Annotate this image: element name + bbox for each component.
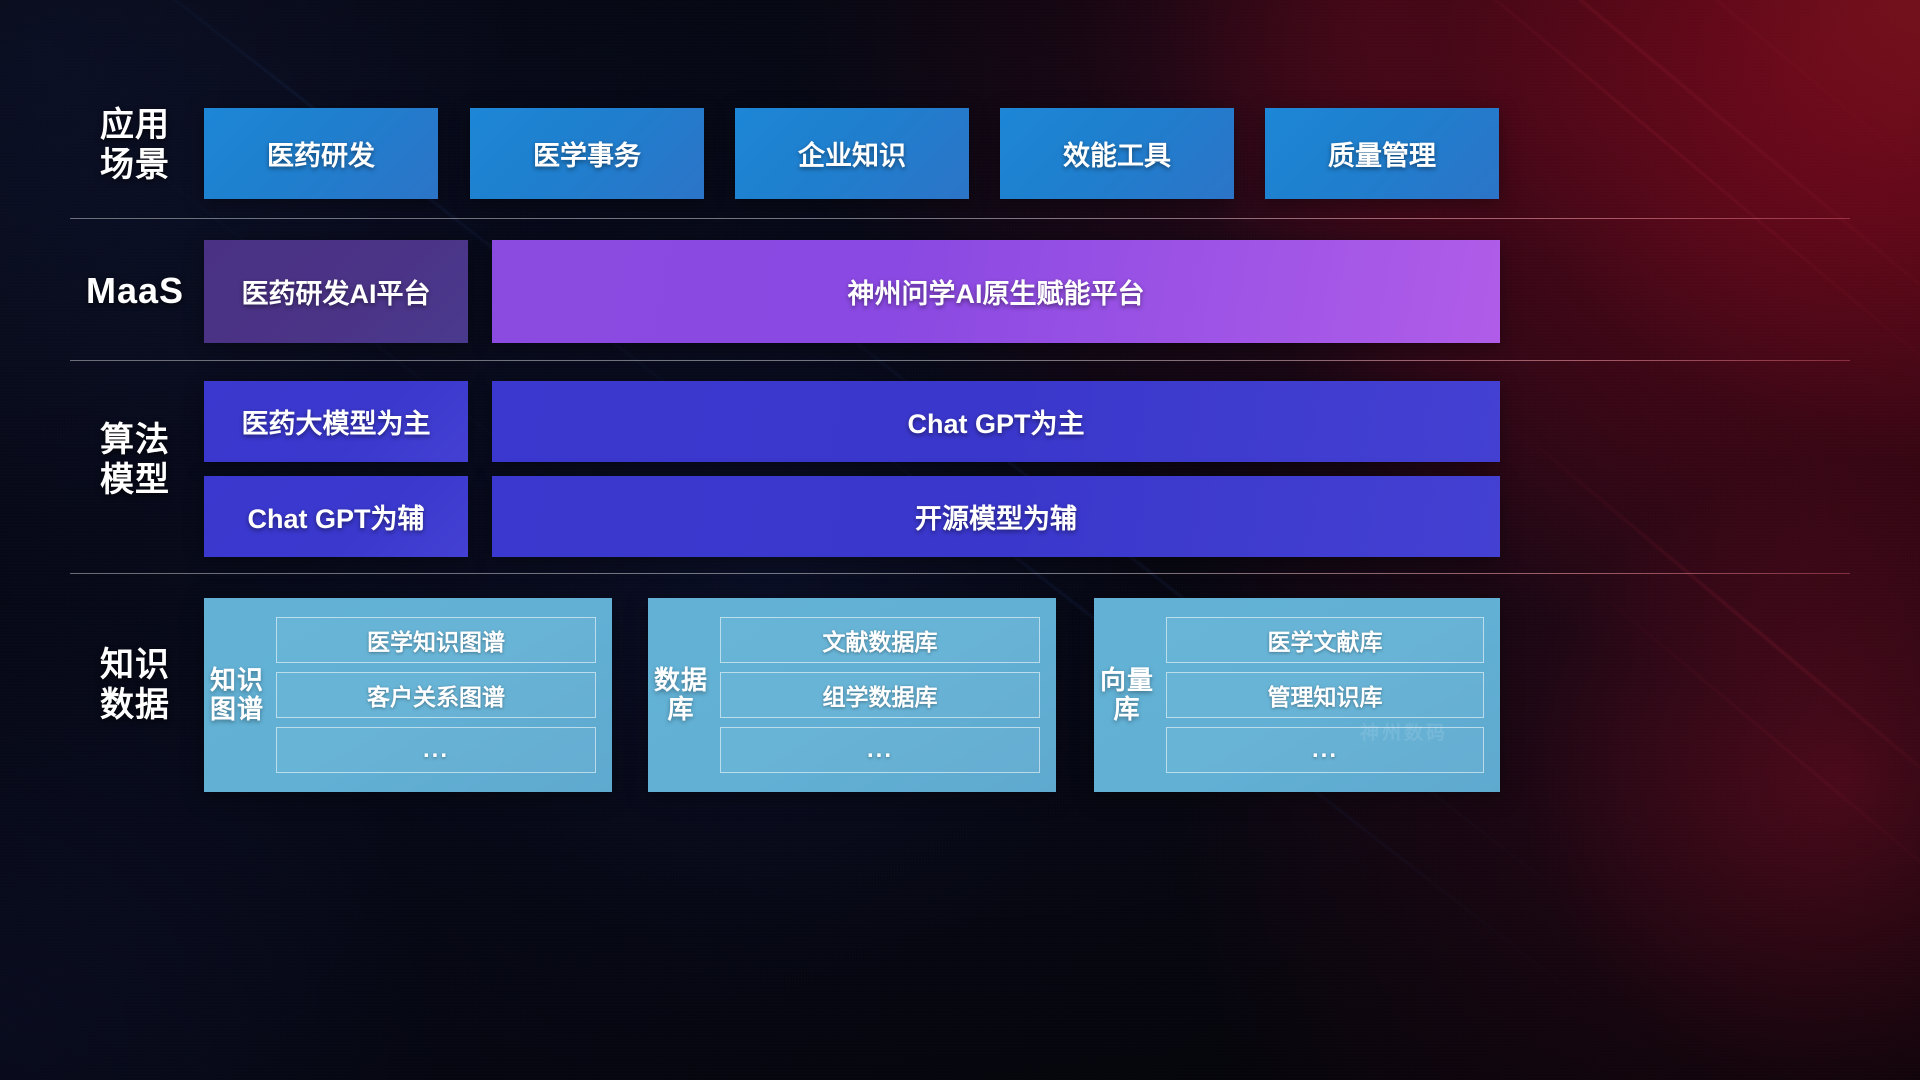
algorithm-box-right-2[interactable]: 开源模型为辅 bbox=[492, 476, 1500, 557]
maas-box-left[interactable]: 医药研发AI平台 bbox=[204, 240, 468, 343]
knowledge-panel-1-title: 知识图谱 bbox=[204, 598, 270, 792]
knowledge-panel-3-items: 医学文献库 管理知识库 ... bbox=[1160, 598, 1500, 792]
knowledge-panel-2[interactable]: 数据库 文献数据库 组学数据库 ... bbox=[648, 598, 1056, 792]
knowledge-item[interactable]: 客户关系图谱 bbox=[276, 672, 596, 718]
row-label-algorithm: 算法 模型 bbox=[70, 420, 200, 500]
algorithm-box-left-1[interactable]: 医药大模型为主 bbox=[204, 381, 468, 462]
knowledge-panel-1[interactable]: 知识图谱 医学知识图谱 客户关系图谱 ... bbox=[204, 598, 612, 792]
algorithm-box-right-1[interactable]: Chat GPT为主 bbox=[492, 381, 1500, 462]
app-box-3[interactable]: 企业知识 bbox=[735, 108, 969, 199]
row-label-application: 应用 场景 bbox=[70, 105, 200, 185]
knowledge-item[interactable]: ... bbox=[276, 727, 596, 773]
knowledge-item[interactable]: ... bbox=[720, 727, 1040, 773]
knowledge-panel-3[interactable]: 向量库 医学文献库 管理知识库 ... bbox=[1094, 598, 1500, 792]
knowledge-item[interactable]: ... bbox=[1166, 727, 1484, 773]
knowledge-item[interactable]: 医学知识图谱 bbox=[276, 617, 596, 663]
app-box-4[interactable]: 效能工具 bbox=[1000, 108, 1234, 199]
knowledge-item[interactable]: 管理知识库 bbox=[1166, 672, 1484, 718]
maas-box-right[interactable]: 神州问学AI原生赋能平台 bbox=[492, 240, 1500, 343]
knowledge-panel-3-title: 向量库 bbox=[1094, 598, 1160, 792]
knowledge-item[interactable]: 文献数据库 bbox=[720, 617, 1040, 663]
app-box-1[interactable]: 医药研发 bbox=[204, 108, 438, 199]
divider-application-maas bbox=[70, 218, 1850, 219]
algorithm-box-left-2[interactable]: Chat GPT为辅 bbox=[204, 476, 468, 557]
diagram-content: 应用 场景 医药研发 医学事务 企业知识 效能工具 质量管理 MaaS 医药研发… bbox=[0, 0, 1920, 1080]
knowledge-panel-2-title: 数据库 bbox=[648, 598, 714, 792]
row-label-maas: MaaS bbox=[70, 270, 200, 312]
knowledge-panel-1-items: 医学知识图谱 客户关系图谱 ... bbox=[270, 598, 612, 792]
app-box-2[interactable]: 医学事务 bbox=[470, 108, 704, 199]
app-box-5[interactable]: 质量管理 bbox=[1265, 108, 1499, 199]
knowledge-panel-2-items: 文献数据库 组学数据库 ... bbox=[714, 598, 1056, 792]
divider-maas-algorithm bbox=[70, 360, 1850, 361]
knowledge-item[interactable]: 医学文献库 bbox=[1166, 617, 1484, 663]
slide-canvas: 应用 场景 医药研发 医学事务 企业知识 效能工具 质量管理 MaaS 医药研发… bbox=[0, 0, 1920, 1080]
divider-algorithm-knowledge bbox=[70, 573, 1850, 574]
knowledge-item[interactable]: 组学数据库 bbox=[720, 672, 1040, 718]
row-label-knowledge: 知识 数据 bbox=[70, 645, 200, 725]
